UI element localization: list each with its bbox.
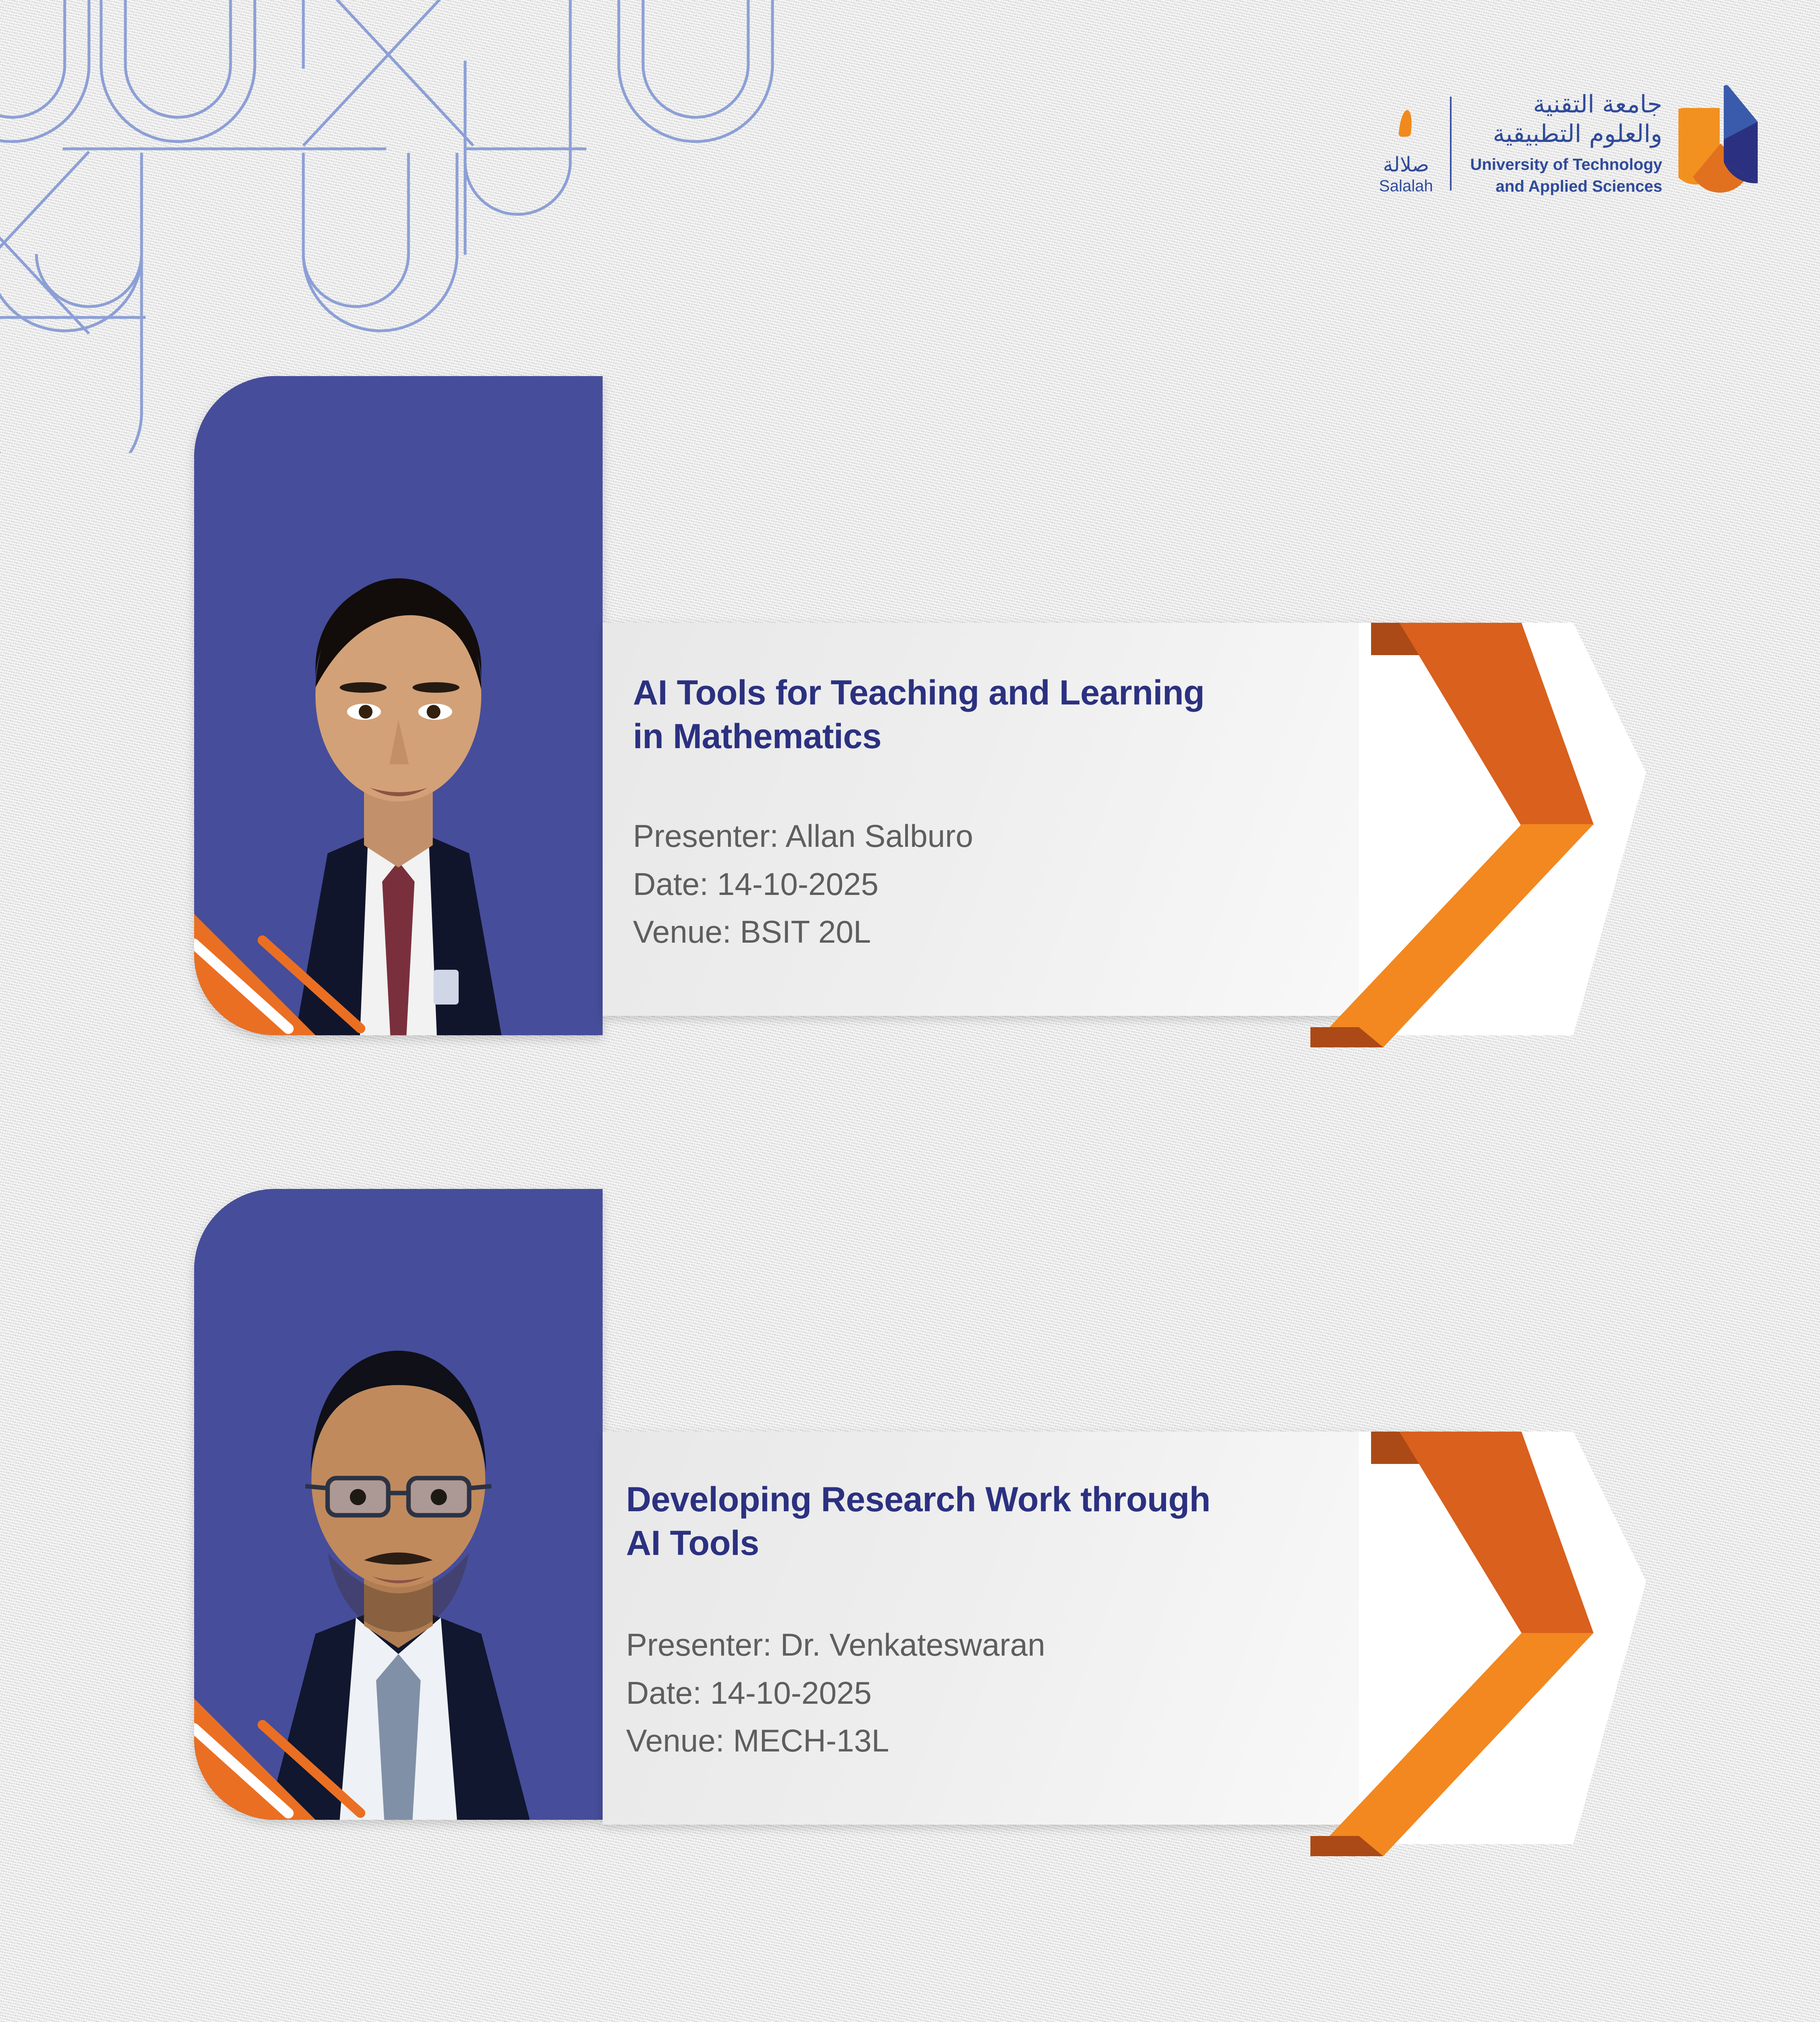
chevron-accent-1 xyxy=(1238,599,1691,1051)
campus-name-arabic: صلالة xyxy=(1383,154,1429,175)
university-name-arabic-line1: جامعة التقنية xyxy=(1533,90,1662,119)
university-name-arabic-line2: والعلوم التطبيقية xyxy=(1493,119,1662,149)
chevron-accent-2 xyxy=(1238,1407,1691,1860)
presenter-photo-card-1 xyxy=(194,376,603,1035)
campus-name-english: Salalah xyxy=(1379,178,1433,194)
presenter-photo-card-2 xyxy=(194,1189,603,1820)
logo-divider xyxy=(1450,97,1452,190)
university-name-english-line2: and Applied Sciences xyxy=(1496,176,1662,197)
campus-logo-salalah: صلالة Salalah xyxy=(1379,93,1450,194)
university-name-block: جامعة التقنية والعلوم التطبيقية Universi… xyxy=(1470,90,1678,197)
university-logo-lockup: صلالة Salalah جامعة التقنية والعلوم التط… xyxy=(1379,83,1765,204)
utas-logo-mark-icon xyxy=(1678,83,1765,204)
university-name-english-line1: University of Technology xyxy=(1470,154,1662,176)
salalah-accent-icon xyxy=(1399,110,1414,137)
